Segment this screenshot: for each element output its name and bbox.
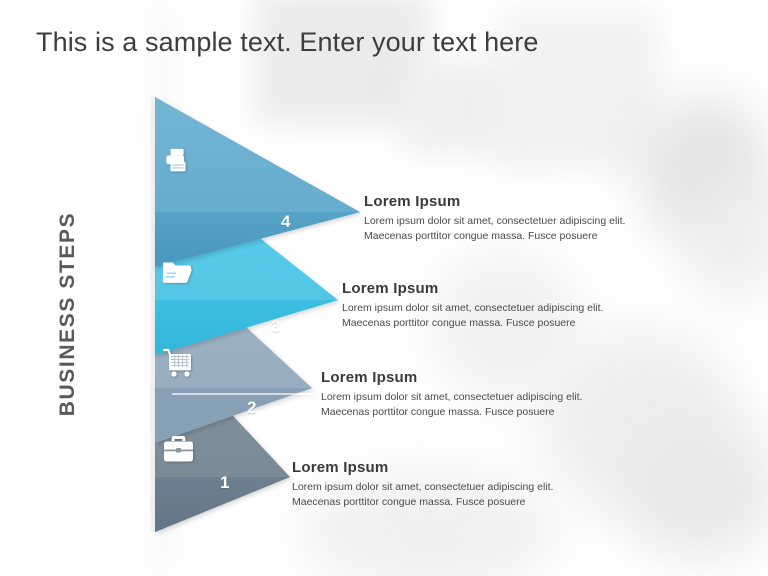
shopping-cart-icon — [163, 347, 194, 378]
step-body-line1-2: Lorem ipsum dolor sit amet, consectetuer… — [321, 390, 582, 405]
printer-icon — [163, 146, 193, 176]
briefcase-icon — [163, 435, 194, 464]
slide-canvas: This is a sample text. Enter your text h… — [0, 0, 768, 576]
step-body-line1-4: Lorem ipsum dolor sit amet, consectetuer… — [364, 214, 625, 229]
spine-edge — [150, 97, 155, 532]
step-number-2: 2 — [247, 398, 256, 418]
step-body-line2-3: Maecenas porttitor congue massa. Fusce p… — [342, 316, 603, 331]
step-text-4: Lorem Ipsum Lorem ipsum dolor sit amet, … — [364, 193, 625, 244]
step-text-1: Lorem Ipsum Lorem ipsum dolor sit amet, … — [292, 459, 553, 510]
step-text-2: Lorem Ipsum Lorem ipsum dolor sit amet, … — [321, 369, 582, 420]
step-body-line1-1: Lorem ipsum dolor sit amet, consectetuer… — [292, 480, 553, 495]
step-text-3: Lorem Ipsum Lorem ipsum dolor sit amet, … — [342, 280, 603, 331]
step-body-line2-1: Maecenas porttitor congue massa. Fusce p… — [292, 495, 553, 510]
step-number-3: 3 — [271, 317, 280, 337]
step-body-line1-3: Lorem ipsum dolor sit amet, consectetuer… — [342, 301, 603, 316]
step-heading-4: Lorem Ipsum — [364, 193, 625, 210]
step-heading-2: Lorem Ipsum — [321, 369, 582, 386]
step-number-1: 1 — [220, 473, 229, 493]
step-heading-3: Lorem Ipsum — [342, 280, 603, 297]
folder-icon — [162, 257, 195, 285]
step-heading-1: Lorem Ipsum — [292, 459, 553, 476]
step-body-line2-2: Maecenas porttitor congue massa. Fusce p… — [321, 405, 582, 420]
step-number-4: 4 — [281, 212, 290, 232]
step-body-line2-4: Maecenas porttitor congue massa. Fusce p… — [364, 229, 625, 244]
